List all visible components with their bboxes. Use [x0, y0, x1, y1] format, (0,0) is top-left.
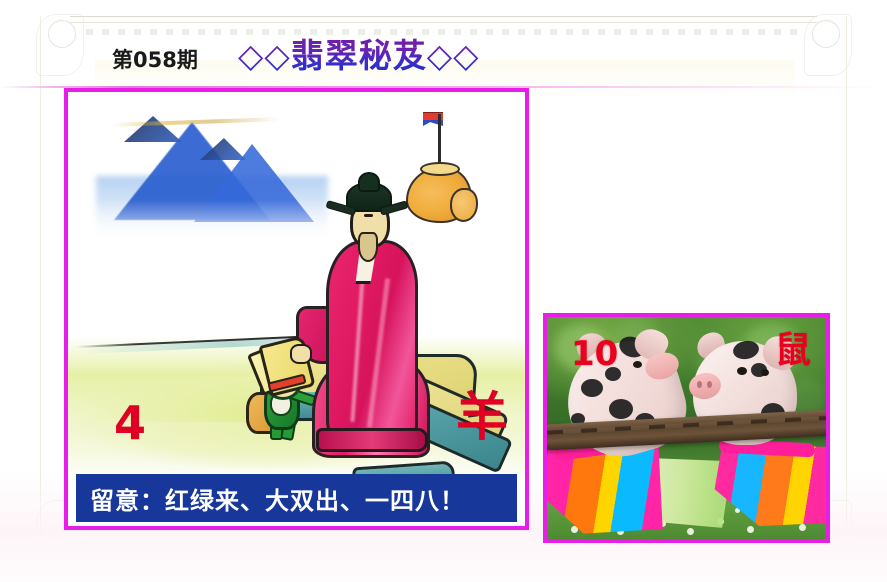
pig-panel-number: 10	[571, 337, 618, 371]
pig-right-nostril-1	[697, 381, 702, 388]
deco-left-line	[40, 16, 41, 561]
deco-top-line-secondary	[70, 22, 817, 23]
pig-left-spot-4	[609, 399, 633, 419]
illustration-canvas: 4 羊 留意：红绿来、大双出、一四八！	[68, 92, 525, 526]
pig-right-eye-left	[737, 367, 747, 375]
flower-9	[799, 524, 806, 531]
pig-left-spot-3	[581, 379, 603, 397]
scholar-beard	[358, 232, 378, 262]
caption-text: 留意：红绿来、大双出、一四八！	[76, 481, 465, 516]
pig-right-nostril-2	[707, 381, 712, 388]
flower-7	[747, 526, 754, 533]
main-illustration-panel[interactable]: 4 羊 留意：红绿来、大双出、一四八！	[64, 88, 529, 530]
scholar-robe-hem	[316, 428, 428, 452]
pig-panel-zodiac: 鼠	[775, 333, 811, 369]
deco-dashed-band	[86, 29, 801, 35]
page-title: ◇◇翡翠秘芨◇◇	[238, 36, 480, 76]
pig-left-eye	[633, 361, 642, 368]
illustration-number: 4	[114, 400, 146, 446]
deco-right-line	[846, 16, 847, 561]
caption-bar: 留意：红绿来、大双出、一四八！	[76, 474, 517, 522]
issue-label: 第058期	[112, 44, 198, 74]
scholar-hand	[290, 344, 312, 364]
scholar-hat-crown	[358, 172, 380, 192]
orange-rock-top	[420, 162, 460, 176]
deco-top-line	[70, 16, 817, 17]
pig-photo-panel[interactable]: 10 鼠	[543, 313, 830, 543]
flower-5	[687, 528, 694, 535]
pig-right-eye-right	[761, 369, 769, 376]
illustration-zodiac: 羊	[456, 392, 508, 444]
orange-rock-lobe	[450, 188, 478, 222]
deco-bottom-line	[70, 560, 817, 561]
scholar-eye	[364, 214, 373, 217]
flag-pole	[438, 114, 441, 168]
mountain-mist	[88, 200, 338, 246]
pig-photo: 10 鼠	[547, 317, 826, 539]
